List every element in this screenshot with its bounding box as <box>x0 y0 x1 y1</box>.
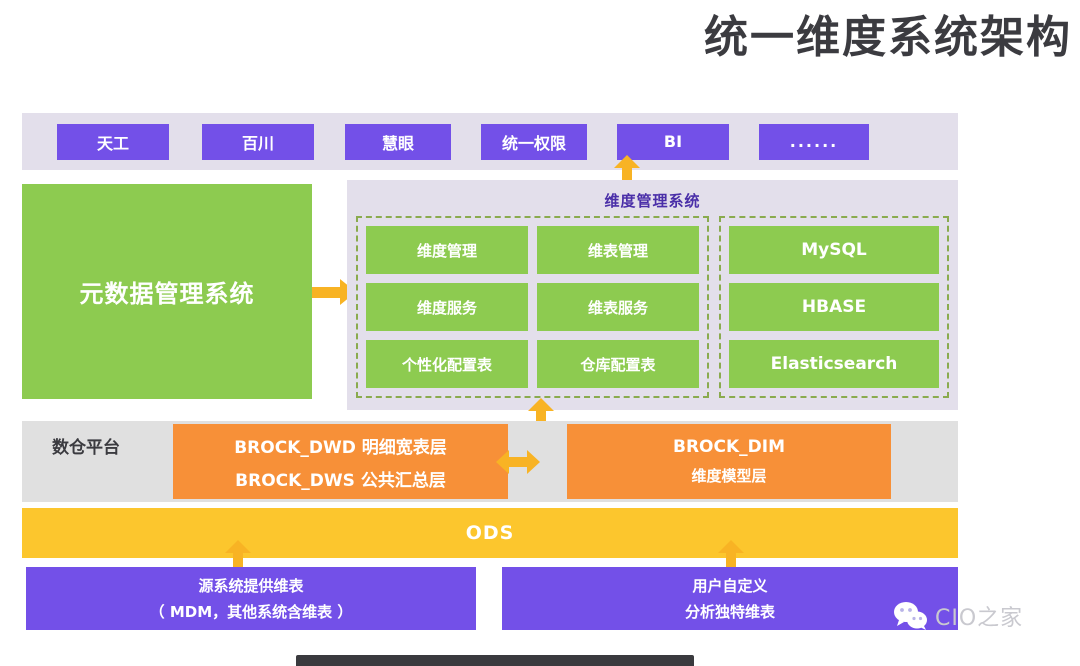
consumer-apps-band: 天工 百川 慧眼 统一权限 BI ...... <box>22 113 958 170</box>
dimension-cell-personalized-config-table[interactable]: 个性化配置表 <box>366 340 528 388</box>
source-box-user-defined[interactable]: 用户自定义 分析独特维表 <box>502 567 958 630</box>
dimension-functions-group: 维度管理 维表管理 维度服务 维表服务 个性化配置表 仓库配置表 <box>356 216 709 398</box>
ods-layer-bar[interactable]: ODS <box>22 508 958 558</box>
source-line-2: 分析独特维表 <box>685 601 775 622</box>
warehouse-dim-line-2: 维度模型层 <box>691 465 766 486</box>
arrow-bidirectional-dwd-dim-icon <box>496 450 540 474</box>
dimension-cell-dimension-service[interactable]: 维度服务 <box>366 283 528 331</box>
warehouse-box-dim[interactable]: BROCK_DIM 维度模型层 <box>567 424 891 499</box>
warehouse-box-dwd-dws[interactable]: BROCK_DWD 明细宽表层 BROCK_DWS 公共汇总层 <box>173 424 508 499</box>
warehouse-dim-line-1: BROCK_DIM <box>673 437 785 457</box>
dimension-cell-dimension-table-management[interactable]: 维表管理 <box>537 226 699 274</box>
app-chip-label: 百川 <box>242 130 274 154</box>
storage-cell-mysql[interactable]: MySQL <box>729 226 939 274</box>
bottom-dark-bar <box>296 655 694 666</box>
metadata-management-system-label: 元数据管理系统 <box>80 274 255 309</box>
dimension-management-system-panel: 维度管理系统 维度管理 维表管理 维度服务 维表服务 个性化配置表 仓库配置表 … <box>347 180 958 410</box>
slide-canvas: 统一维度系统架构 天工 百川 慧眼 统一权限 BI ...... 元数据管理系统 <box>0 0 1080 666</box>
dimension-storage-group: MySQL HBASE Elasticsearch <box>719 216 949 398</box>
dimension-cell-dimension-management[interactable]: 维度管理 <box>366 226 528 274</box>
app-chip-tiangong[interactable]: 天工 <box>57 124 169 160</box>
app-chip-baichuan[interactable]: 百川 <box>202 124 314 160</box>
watermark: CIO之家 <box>893 600 1023 632</box>
page-title: 统一维度系统架构 <box>704 14 1072 62</box>
app-chip-unified-auth[interactable]: 统一权限 <box>481 124 587 160</box>
app-chip-huiyan[interactable]: 慧眼 <box>345 124 451 160</box>
app-chip-label: BI <box>664 132 682 151</box>
arrow-up-to-apps-icon <box>614 155 640 183</box>
app-chip-label: 慧眼 <box>382 130 414 154</box>
storage-cell-hbase[interactable]: HBASE <box>729 283 939 331</box>
dimension-functions-row: 维度服务 维表服务 <box>366 283 699 331</box>
ods-layer-label: ODS <box>466 522 515 544</box>
wechat-icon <box>893 601 929 631</box>
dimension-functions-row: 维度管理 维表管理 <box>366 226 699 274</box>
app-chip-label: 统一权限 <box>502 130 566 154</box>
source-box-system-provided[interactable]: 源系统提供维表 （ MDM，其他系统含维表 ） <box>26 567 476 630</box>
watermark-label: CIO之家 <box>935 600 1023 632</box>
metadata-management-system-box[interactable]: 元数据管理系统 <box>22 184 312 399</box>
source-line-1: 用户自定义 <box>692 575 767 596</box>
app-chip-label: ...... <box>790 132 838 151</box>
warehouse-dwd-line-1: BROCK_DWD 明细宽表层 <box>234 433 447 458</box>
dimension-cell-warehouse-config-table[interactable]: 仓库配置表 <box>537 340 699 388</box>
dimension-cell-dimension-table-service[interactable]: 维表服务 <box>537 283 699 331</box>
warehouse-dwd-line-2: BROCK_DWS 公共汇总层 <box>235 466 446 491</box>
data-warehouse-band: 数仓平台 BROCK_DWD 明细宽表层 BROCK_DWS 公共汇总层 BRO… <box>22 421 958 502</box>
storage-cell-elasticsearch[interactable]: Elasticsearch <box>729 340 939 388</box>
dimension-management-system-title: 维度管理系统 <box>347 190 958 211</box>
source-line-2: （ MDM，其他系统含维表 ） <box>150 601 353 622</box>
source-line-1: 源系统提供维表 <box>198 575 303 596</box>
dimension-functions-row: 个性化配置表 仓库配置表 <box>366 340 699 388</box>
data-warehouse-platform-label: 数仓平台 <box>52 437 122 460</box>
app-chip-more[interactable]: ...... <box>759 124 869 160</box>
app-chip-label: 天工 <box>97 130 129 154</box>
